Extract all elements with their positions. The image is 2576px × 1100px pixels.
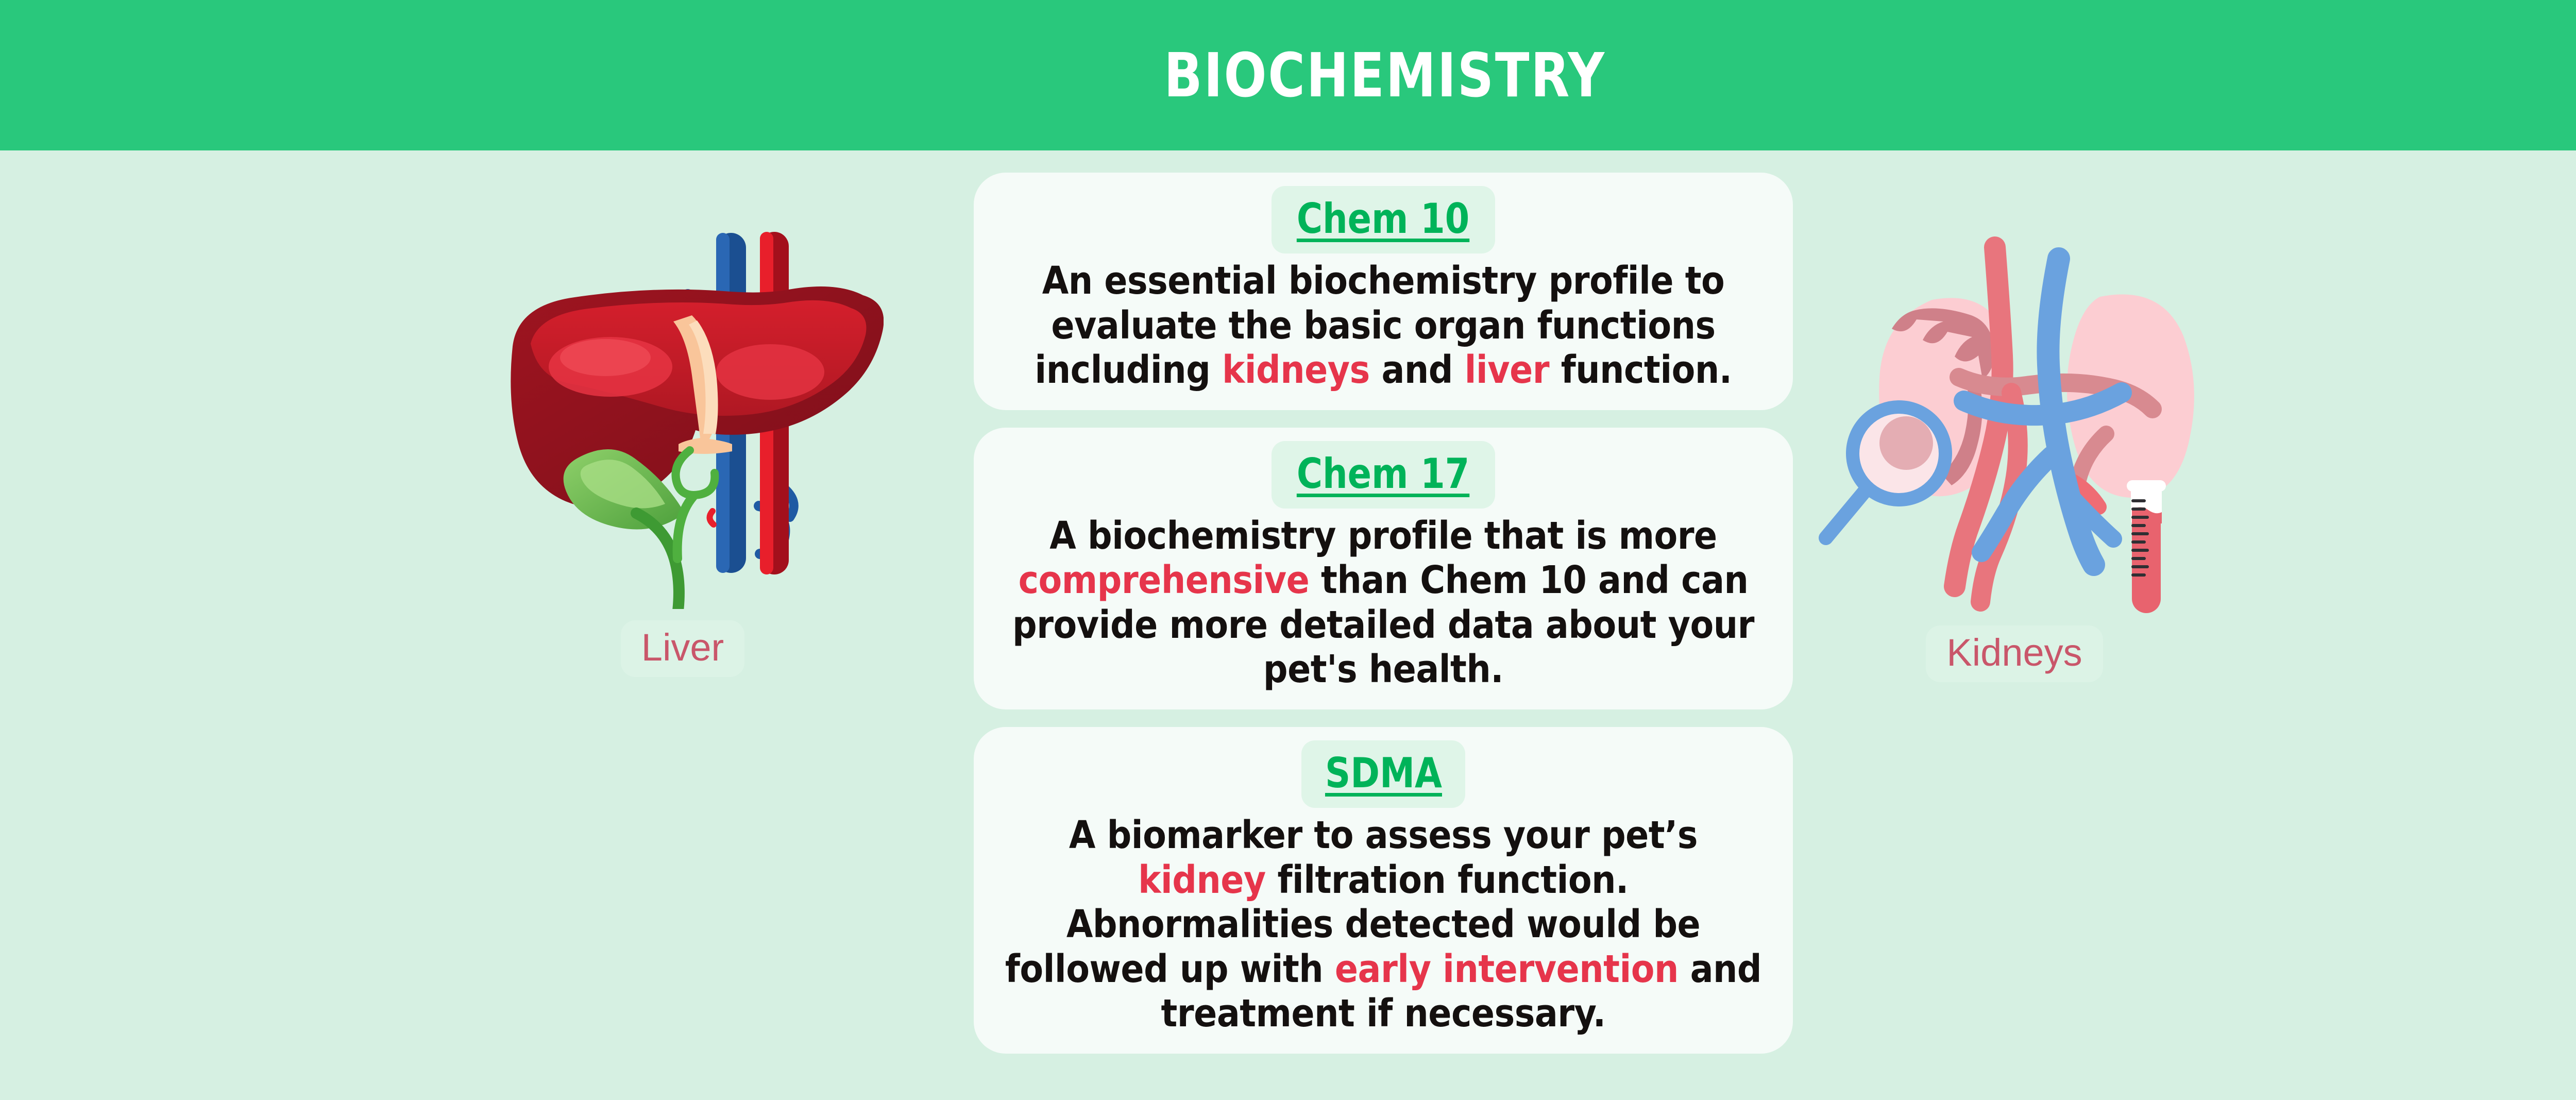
kidneys-label-chip: Kidneys — [1926, 625, 2103, 682]
highlight-comprehensive: comprehensive — [1019, 558, 1310, 602]
card-chem10-heading-pill: Chem 10 — [1272, 186, 1495, 253]
magnifying-glass-icon — [1826, 407, 1945, 538]
card-sdma-heading-pill: SDMA — [1301, 740, 1466, 808]
card-chem10[interactable]: Chem 10 An essential biochemistry profil… — [974, 173, 1793, 410]
header-bar: BIOCHEMISTRY — [0, 0, 2576, 150]
liver-label-chip: Liver — [621, 620, 744, 677]
kidneys-label: Kidneys — [1946, 631, 2082, 674]
kidneys-illustration — [1814, 223, 2215, 614]
card-chem10-heading: Chem 10 — [1297, 195, 1469, 243]
text-segment: A biochemistry profile that is more — [1049, 514, 1717, 558]
text-segment: A biomarker to assess your pet’s — [1069, 813, 1698, 857]
kidneys-panel: Kidneys — [1814, 223, 2215, 682]
liver-icon — [482, 217, 884, 609]
highlight-kidney: kidney — [1138, 858, 1266, 902]
liver-label: Liver — [641, 626, 724, 669]
liver-panel: Liver — [482, 217, 884, 677]
liver-illustration — [482, 217, 884, 609]
text-segment: and — [1370, 348, 1465, 392]
page-body: Liver Chem 10 An essential biochemistry … — [0, 150, 2576, 1100]
highlight-early-intervention: early intervention — [1335, 947, 1679, 991]
card-chem10-body: An essential biochemistry profile to eva… — [997, 259, 1769, 393]
text-segment: function. — [1549, 348, 1732, 392]
blood-test-tube-icon — [2127, 480, 2166, 613]
card-chem17-heading-pill: Chem 17 — [1272, 441, 1495, 509]
card-sdma[interactable]: SDMA A biomarker to assess your pet’s ki… — [974, 727, 1793, 1054]
gallbladder-icon — [564, 449, 715, 609]
page-title: BIOCHEMISTRY — [1164, 40, 1606, 111]
kidneys-icon — [1814, 223, 2215, 614]
card-chem17-heading: Chem 17 — [1297, 450, 1469, 498]
card-chem17-body: A biochemistry profile that is more comp… — [997, 514, 1769, 692]
card-chem17[interactable]: Chem 17 A biochemistry profile that is m… — [974, 428, 1793, 709]
biochemistry-card-list: Chem 10 An essential biochemistry profil… — [974, 173, 1793, 1071]
highlight-liver: liver — [1465, 348, 1550, 392]
card-sdma-heading: SDMA — [1325, 749, 1442, 797]
card-sdma-body: A biomarker to assess your pet’s kidney … — [997, 813, 1769, 1036]
highlight-kidneys: kidneys — [1222, 348, 1370, 392]
